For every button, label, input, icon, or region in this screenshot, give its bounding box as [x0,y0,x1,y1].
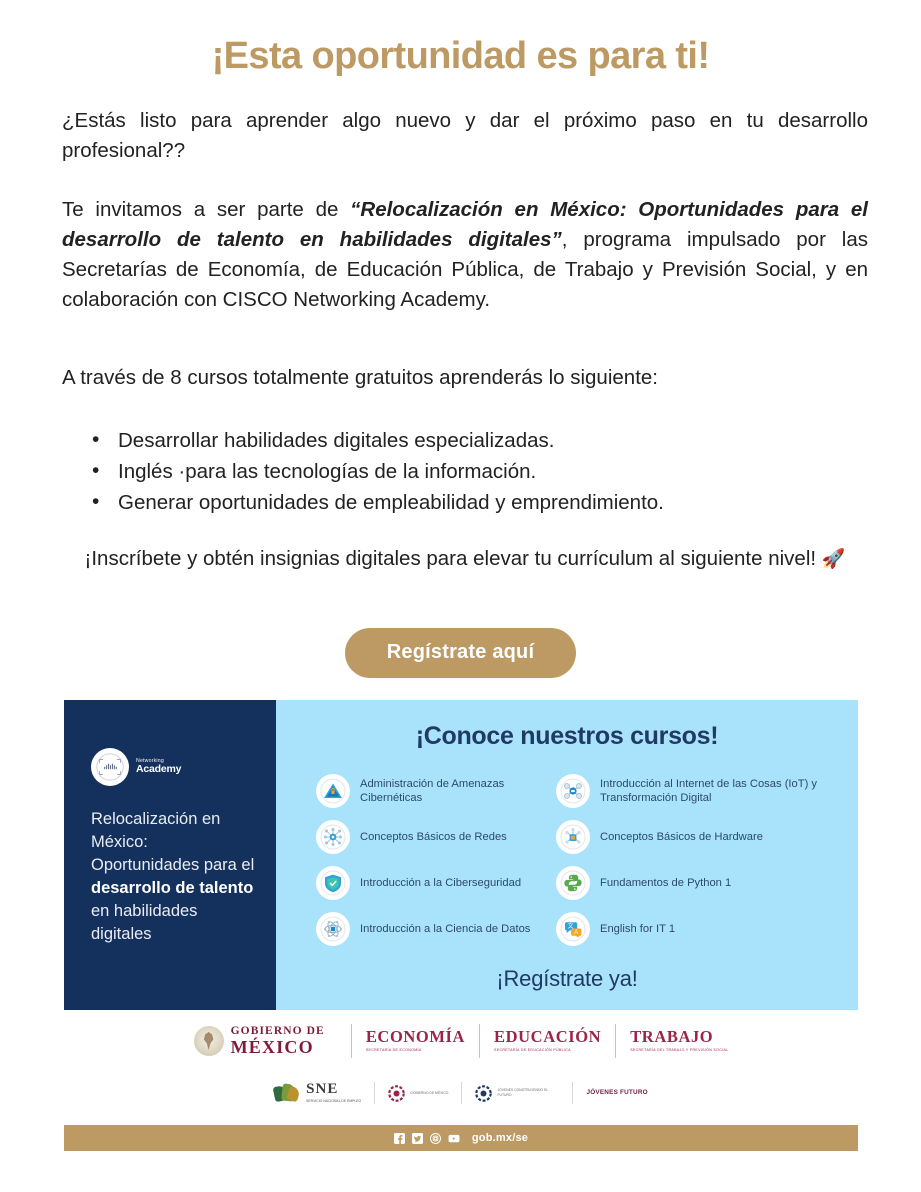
list-item: Desarrollar habilidades digitales especi… [106,425,896,456]
partner-logo-trabajo: JÓVENES CONSTRUYENDO EL FUTURO [475,1085,559,1102]
threat-triangle-icon [316,774,350,808]
logo-line-top: Networking [136,759,181,764]
chat-translate-icon: 文 A [556,912,590,946]
ministry-economia: ECONOMÍA SECRETARÍA DE ECONOMÍA [366,1029,465,1054]
banner-title-post: en habilidades digitales [91,902,197,943]
logo-line-bottom: Academy [136,764,181,775]
course-label: Introducción a la Ciencia de Datos [360,922,530,936]
banner-title-bold: desarrollo de talento [91,879,253,897]
course-label: Fundamentos de Python 1 [600,876,731,890]
divider [374,1082,375,1104]
courses-grid: Administración de Amenazas Cibernéticas [316,768,840,952]
divider [351,1024,352,1058]
social-footer-bar: gob.mx/se [64,1125,858,1151]
ministry-sub: SECRETARÍA DEL TRABAJO Y PREVISIÓN SOCIA… [630,1048,728,1053]
rocket-icon: 🚀 [822,549,846,570]
list-item: Inglés ·para las tecnologías de la infor… [106,456,896,487]
shield-check-icon [316,866,350,900]
svg-text:A: A [574,930,578,936]
partner-sub: JÓVENES CONSTRUYENDO EL FUTURO [497,1088,559,1097]
partner-sub: GOBIERNO DE MÉXICO [410,1091,448,1096]
divider [572,1082,573,1104]
partner-logo-economia: GOBIERNO DE MÉXICO [388,1085,448,1102]
iot-network-icon [556,774,590,808]
government-logos-row: GOBIERNO DE MÉXICO ECONOMÍA SECRETARÍA D… [64,1024,858,1058]
ministry-trabajo: TRABAJO SECRETARÍA DEL TRABAJO Y PREVISI… [630,1029,728,1054]
website-url[interactable]: gob.mx/se [472,1132,528,1144]
email-newsletter-page: ¡Esta oportunidad es para ti! ¿Estás lis… [0,0,921,1192]
network-gear-icon [316,820,350,854]
courses-lead-paragraph: A través de 8 cursos totalmente gratuito… [62,363,868,393]
register-button[interactable]: Regístrate aquí [345,628,576,678]
sne-hands-icon [274,1082,300,1104]
ministry-name: ECONOMÍA [366,1029,465,1046]
course-item[interactable]: Administración de Amenazas Cibernéticas [316,768,546,814]
trabajo-gear-icon [475,1085,492,1102]
facebook-icon[interactable] [394,1132,406,1144]
mexican-eagle-icon [194,1026,224,1056]
list-item: Generar oportunidades de empleabilidad y… [106,487,896,518]
hardware-chip-icon [556,820,590,854]
divider [461,1082,462,1104]
closing-text: ¡Inscríbete y obtén insignias digitales … [85,547,817,570]
divider [479,1024,480,1058]
closing-paragraph: ¡Inscríbete y obtén insignias digitales … [62,543,868,576]
ministry-educacion: EDUCACIÓN SECRETARÍA DE EDUCACIÓN PÚBLIC… [494,1029,601,1054]
divider [615,1024,616,1058]
course-item[interactable]: 文 A English for IT 1 [556,906,840,952]
program-paragraph: Te invitamos a ser parte de “Relocalizac… [62,195,868,315]
python-icon [556,866,590,900]
economia-seal-icon [388,1085,405,1102]
banner-register-cta[interactable]: ¡Regístrate ya! [276,966,858,992]
course-label: Conceptos Básicos de Hardware [600,830,763,844]
gobierno-line2: MÉXICO [231,1038,325,1056]
ministry-sub: SECRETARÍA DE EDUCACIÓN PÚBLICA [494,1048,601,1053]
course-item[interactable]: Introducción a la Ciberseguridad [316,860,546,906]
list-item-label: Desarrollar habilidades digitales especi… [118,429,554,452]
course-label: English for IT 1 [600,922,675,936]
youtube-icon[interactable] [448,1132,460,1144]
partner-logos-row: SNE SERVICIO NACIONAL DE EMPLEO GOBIERNO… [64,1082,858,1104]
instagram-icon[interactable] [430,1132,442,1144]
benefits-list: Desarrollar habilidades digitales especi… [78,425,896,518]
gobierno-de-mexico-wordmark: GOBIERNO DE MÉXICO [231,1026,325,1056]
networking-academy-wordmark: Networking Academy [136,759,181,775]
course-item[interactable]: Conceptos Básicos de Redes [316,814,546,860]
courses-lead-text: A través de 8 cursos totalmente gratuito… [62,366,658,389]
networking-academy-logo: Networking Academy [91,748,181,786]
course-item[interactable]: Introducción al Internet de las Cosas (I… [556,768,840,814]
cta-container: Regístrate aquí [0,628,921,678]
course-item[interactable]: Fundamentos de Python 1 [556,860,840,906]
sne-logo: SNE SERVICIO NACIONAL DE EMPLEO [274,1082,361,1104]
promo-banner[interactable]: Networking Academy Relocalización en Méx… [64,700,858,1010]
twitter-icon[interactable] [412,1132,424,1144]
course-item[interactable]: Introducción a la Ciencia de Datos [316,906,546,952]
cisco-bridge-icon [91,748,129,786]
course-item[interactable]: Conceptos Básicos de Hardware [556,814,840,860]
ministry-name: EDUCACIÓN [494,1029,601,1046]
banner-title: Relocalización en México: Oportunidades … [91,808,256,946]
list-item-label: Generar oportunidades de empleabilidad y… [118,491,664,514]
list-item-label: Inglés ·para las tecnologías de la infor… [118,460,536,483]
ministry-name: TRABAJO [630,1029,728,1046]
atom-data-icon [316,912,350,946]
course-label: Conceptos Básicos de Redes [360,830,507,844]
course-label: Administración de Amenazas Cibernéticas [360,777,546,805]
sne-sub: SERVICIO NACIONAL DE EMPLEO [306,1099,361,1104]
course-label: Introducción a la Ciberseguridad [360,876,521,890]
intro-paragraph-text: ¿Estás listo para aprender algo nuevo y … [62,109,868,162]
sne-name: SNE [306,1082,361,1097]
banner-left-panel: Networking Academy Relocalización en Méx… [64,700,276,1010]
course-label: Introducción al Internet de las Cosas (I… [600,777,840,805]
intro-paragraph: ¿Estás listo para aprender algo nuevo y … [62,106,868,166]
banner-title-pre: Relocalización en México: Oportunidades … [91,810,254,874]
jovenes-futuro-logo: JÓVENES FUTURO [586,1090,647,1096]
page-title: ¡Esta oportunidad es para ti! [0,34,921,78]
courses-heading: ¡Conoce nuestros cursos! [276,722,858,751]
program-paragraph-lead: Te invitamos a ser parte de [62,198,350,221]
banner-right-panel: ¡Conoce nuestros cursos! Administración [276,700,858,1010]
sne-wordmark: SNE SERVICIO NACIONAL DE EMPLEO [306,1082,361,1104]
ministry-sub: SECRETARÍA DE ECONOMÍA [366,1048,465,1053]
jf-line1: JÓVENES FUTURO [586,1090,647,1096]
